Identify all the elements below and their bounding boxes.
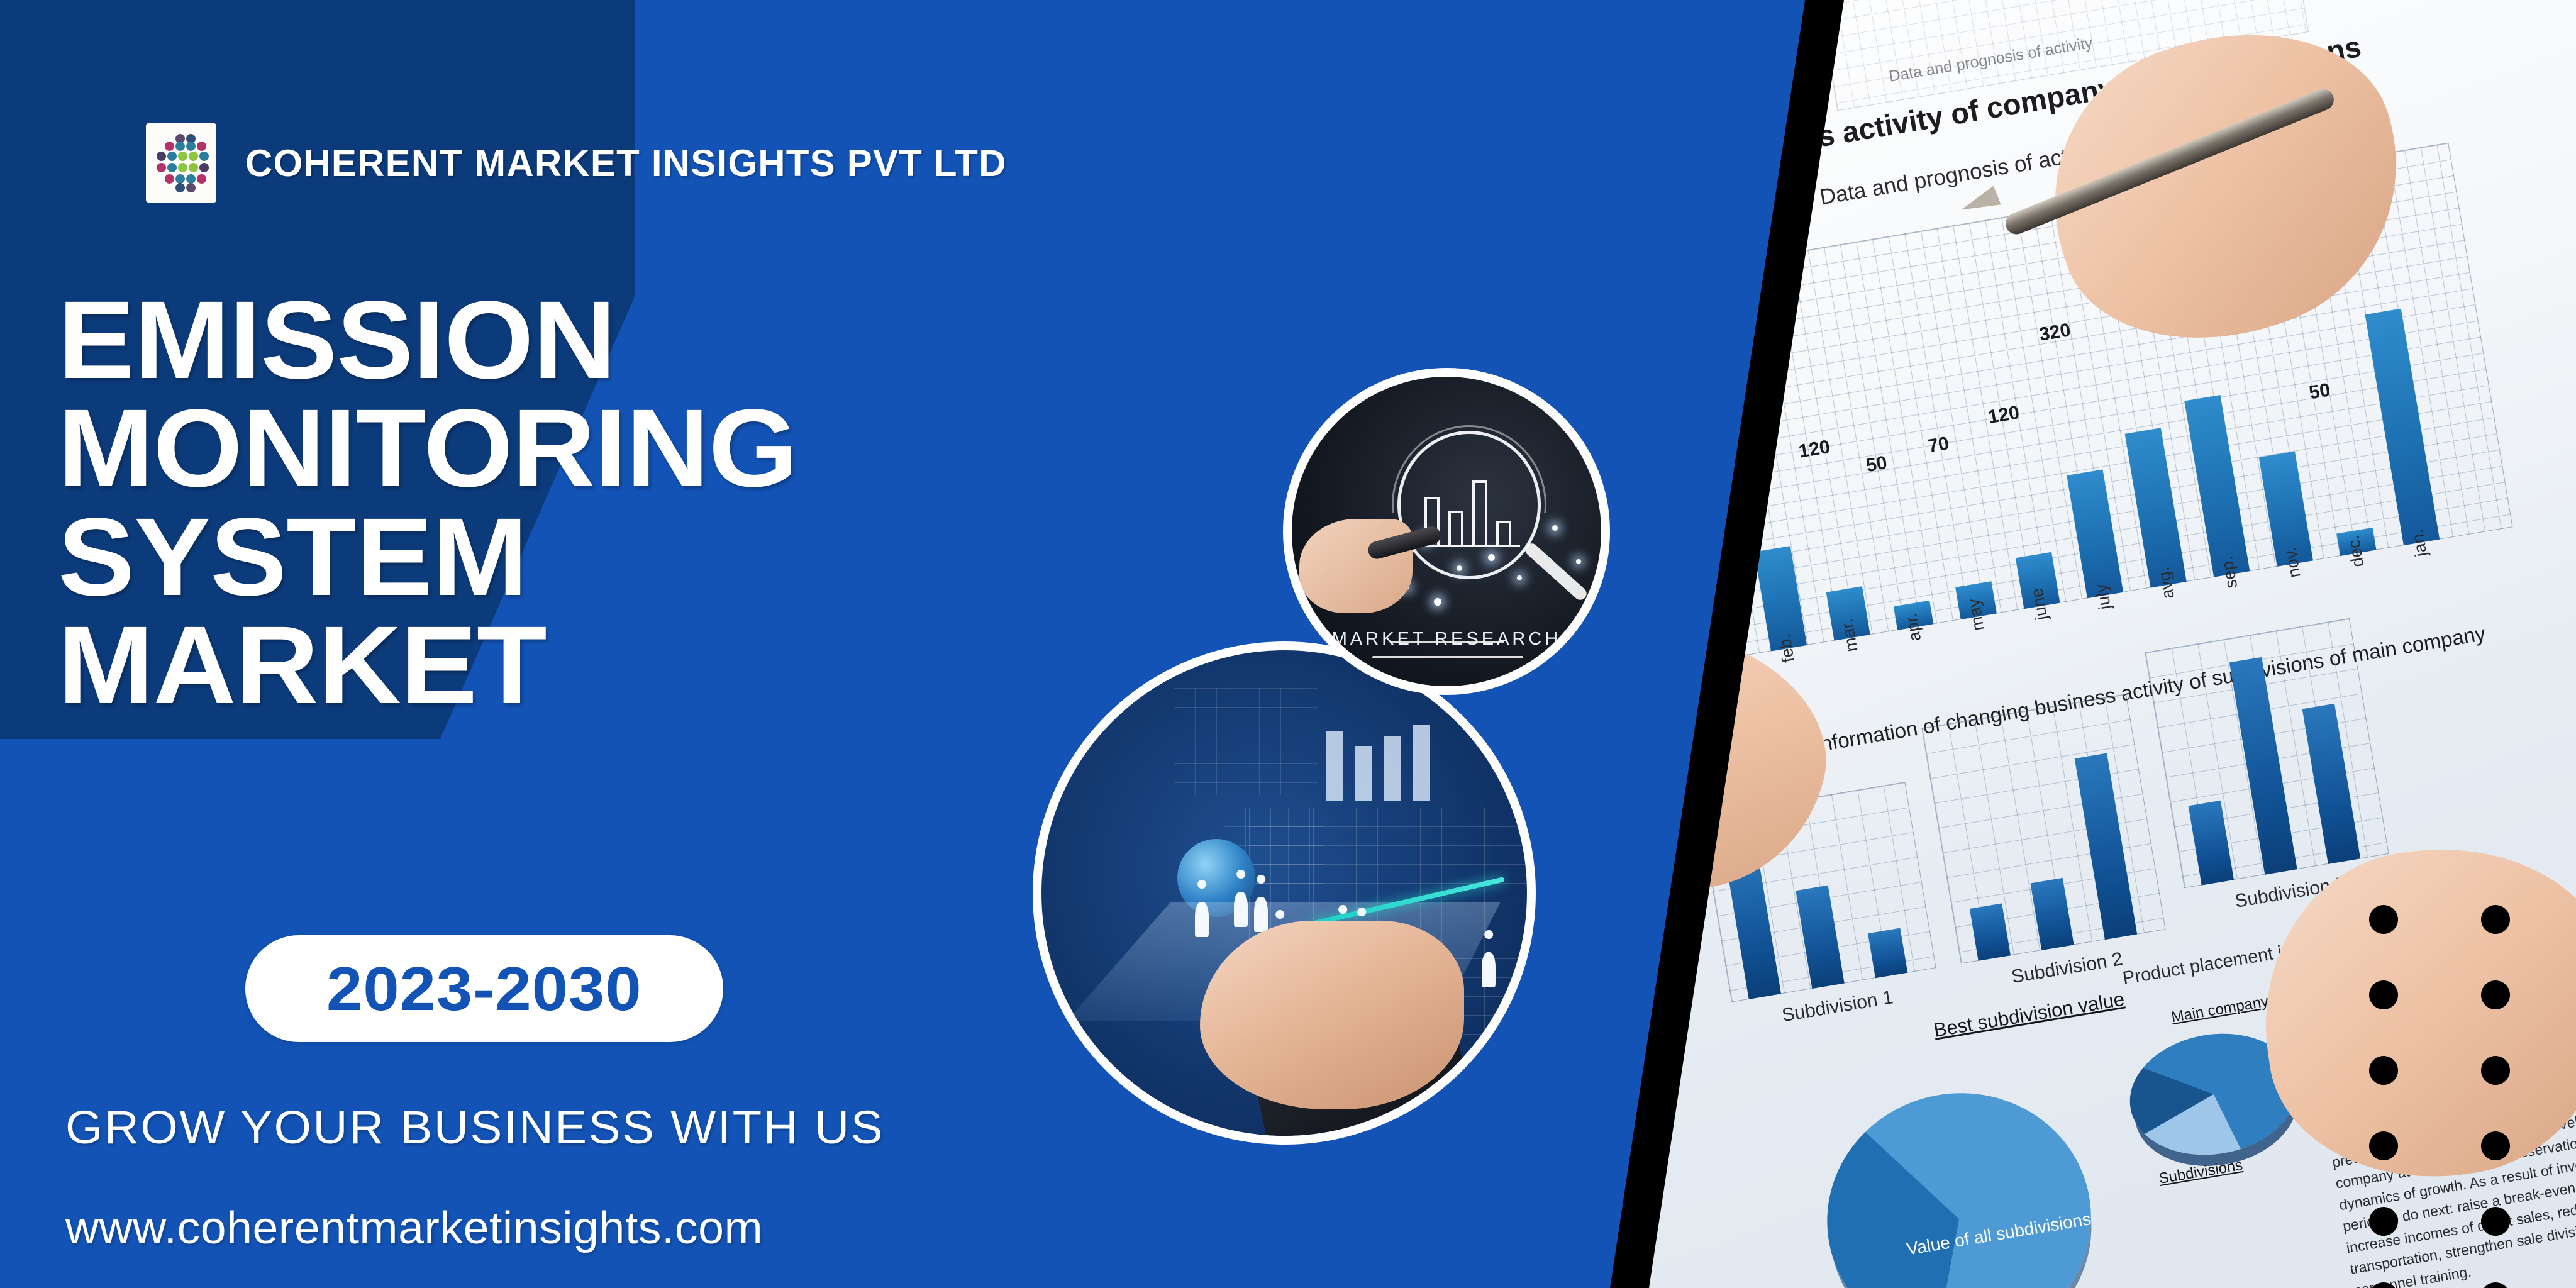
headline-line-3: SYSTEM xyxy=(58,503,1248,611)
pie-best-subdivision xyxy=(1808,1074,2110,1288)
chart1-label-50: 50 xyxy=(1865,452,1889,477)
headline-line-4: MARKET xyxy=(58,611,1248,719)
marketing-banner: Data and prognosis of activity Business … xyxy=(0,0,2576,1288)
brand-name: COHERENT MARKET INSIGHTS PVT LTD xyxy=(245,142,1007,185)
chart1-xtick-july: july xyxy=(2092,582,2115,611)
hand-drawing xyxy=(1299,519,1413,613)
sketch-line-2 xyxy=(1372,656,1523,658)
dot xyxy=(2369,980,2398,1009)
chart1-bar-dec xyxy=(2365,309,2440,545)
magnifying-glass-icon xyxy=(1397,431,1541,579)
person-silhouette-1 xyxy=(1195,902,1209,937)
holo-bar-3 xyxy=(1384,736,1401,801)
open-hand xyxy=(1200,921,1464,1109)
dot xyxy=(2481,1056,2510,1085)
mag-chart-bar-4 xyxy=(1496,521,1511,546)
dot xyxy=(2481,905,2510,934)
chart1-bar-sep xyxy=(2184,395,2250,577)
spark-3 xyxy=(1488,554,1495,561)
chart1-bar-july xyxy=(2067,469,2123,598)
dot xyxy=(2481,980,2510,1009)
headline-line-1: EMISSION xyxy=(58,286,1248,394)
spark-2 xyxy=(1457,565,1462,571)
hologram-circle-image xyxy=(1033,641,1536,1145)
coherent-dot-cluster-logo-icon xyxy=(154,133,208,193)
dot xyxy=(2369,1207,2398,1236)
pie-best-subdivision-label: Best subdivision value xyxy=(1932,988,2126,1042)
chart1-ytick-500: 500 xyxy=(1611,513,1646,540)
spark-6 xyxy=(1434,598,1441,606)
dot xyxy=(2481,1131,2510,1160)
holo-bar-1 xyxy=(1326,731,1343,801)
market-research-label: MARKET RESEARCH xyxy=(1292,629,1601,650)
dot xyxy=(2481,1282,2510,1288)
spark-8 xyxy=(1576,559,1581,564)
tagline: GROW YOUR BUSINESS WITH US xyxy=(65,1101,884,1154)
dot xyxy=(2481,1207,2510,1236)
chart1-ytick-400: 400 xyxy=(1623,588,1658,614)
holo-bar-2 xyxy=(1355,746,1372,801)
chart1-label-70: 70 xyxy=(1926,433,1951,458)
label-subdivisions: Subdivisions xyxy=(2158,1157,2245,1188)
year-range-badge: 2023-2030 xyxy=(245,935,723,1042)
person-silhouette-3 xyxy=(1254,897,1268,932)
dot xyxy=(2369,1056,2398,1085)
label-main-company: Main company xyxy=(2170,993,2270,1026)
brand-header: COHERENT MARKET INSIGHTS PVT LTD xyxy=(146,123,1007,203)
company-logo xyxy=(146,123,216,203)
mag-chart-bar-3 xyxy=(1472,480,1487,546)
mag-chart-baseline xyxy=(1418,545,1520,547)
person-silhouette-7 xyxy=(1482,952,1496,987)
holo-bar-4 xyxy=(1413,724,1430,801)
dot xyxy=(2369,1131,2398,1160)
website-url[interactable]: www.coherentmarketinsights.com xyxy=(65,1202,763,1254)
year-range-label: 2023-2030 xyxy=(326,953,642,1024)
chart2-bars-sub2 xyxy=(1921,694,2165,963)
holo-line-chart-grid xyxy=(1174,688,1318,795)
chart1-label-50b: 50 xyxy=(2307,379,2332,404)
person-silhouette-2 xyxy=(1234,892,1248,927)
chart1-bar-avg xyxy=(2125,428,2187,587)
headline-line-2: MONITORING xyxy=(58,394,1248,502)
mag-chart-bar-2 xyxy=(1448,511,1463,546)
dot xyxy=(2369,1282,2398,1288)
spark-7 xyxy=(1552,525,1558,531)
page-title: EMISSION MONITORING SYSTEM MARKET xyxy=(58,286,1248,720)
decorative-dot-grid xyxy=(2353,889,2576,1288)
chart2-label-sub1: Subdivision 1 xyxy=(1780,987,1895,1026)
spark-4 xyxy=(1517,575,1522,580)
chart1-label-340: 340 xyxy=(1657,375,1691,402)
market-research-circle-image: MARKET RESEARCH xyxy=(1283,368,1610,695)
dot xyxy=(2369,905,2398,934)
chart2-label-sub2: Subdivision 2 xyxy=(2010,948,2124,988)
magnifier-handle xyxy=(1523,541,1589,602)
chart2-bars-sub3 xyxy=(2145,618,2389,888)
